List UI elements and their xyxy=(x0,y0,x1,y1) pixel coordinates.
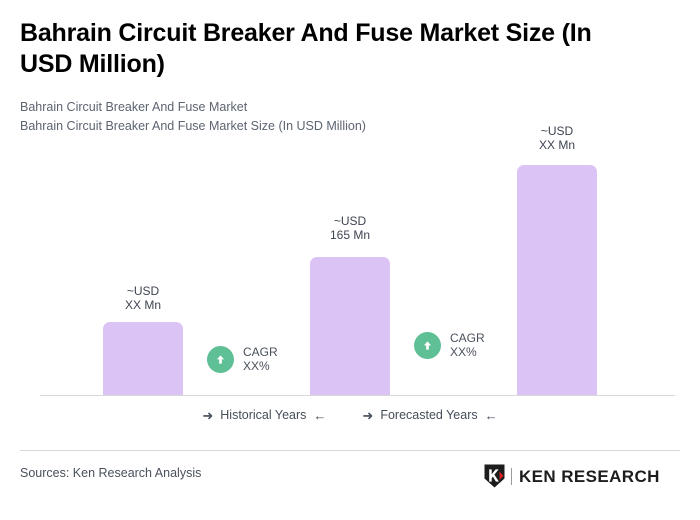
arrow-left-icon: ← xyxy=(313,409,326,422)
arrow-right-icon: ➜ xyxy=(362,409,373,422)
bar-label-2-value: 165 Mn xyxy=(290,228,410,242)
sources-text: Sources: Ken Research Analysis xyxy=(20,466,201,480)
axis-baseline xyxy=(40,395,675,396)
cagr-badge-1-text: CAGR XX% xyxy=(243,345,278,374)
arrow-right-icon: ➜ xyxy=(202,409,213,422)
cagr-badge-1: CAGR XX% xyxy=(207,345,278,374)
bar-3 xyxy=(517,165,597,395)
cagr-badge-1-title: CAGR xyxy=(243,345,278,359)
ken-research-logo: KEN RESEARCH xyxy=(483,463,660,489)
legend-item-forecasted-years-label: Forecasted Years xyxy=(380,408,477,422)
cagr-badge-1-value: XX% xyxy=(243,359,278,373)
bar-label-3-value: XX Mn xyxy=(497,138,617,152)
bar-label-3: ~USD XX Mn xyxy=(497,124,617,153)
chart-page: Bahrain Circuit Breaker And Fuse Market … xyxy=(0,0,700,520)
ken-research-shield-icon xyxy=(483,463,506,489)
cagr-badge-2-title: CAGR xyxy=(450,331,485,345)
arrow-left-icon: ← xyxy=(485,409,498,422)
bar-label-2: ~USD 165 Mn xyxy=(290,214,410,243)
bar-label-3-unit: ~USD xyxy=(497,124,617,138)
bar-label-1-value: XX Mn xyxy=(83,298,203,312)
cagr-badge-2-value: XX% xyxy=(450,345,485,359)
bar-label-1-unit: ~USD xyxy=(83,284,203,298)
bar-label-1: ~USD XX Mn xyxy=(83,284,203,313)
logo-separator xyxy=(511,468,512,485)
footer-divider xyxy=(20,450,680,451)
bar-2 xyxy=(310,257,390,395)
ken-research-wordmark: KEN RESEARCH xyxy=(519,468,660,485)
plot-area: ~USD XX Mn ~USD 165 Mn ~USD XX Mn CAGR xyxy=(0,0,700,400)
chart-legend: ➜ Historical Years ← ➜ Forecasted Years … xyxy=(0,408,700,422)
legend-item-forecasted-years: ➜ Forecasted Years ← xyxy=(362,408,497,422)
bar-label-2-unit: ~USD xyxy=(290,214,410,228)
bar-1 xyxy=(103,322,183,395)
cagr-badge-2: CAGR XX% xyxy=(414,331,485,360)
cagr-up-arrow-icon xyxy=(207,346,234,373)
legend-item-historical-years-label: Historical Years xyxy=(220,408,306,422)
legend-item-historical-years: ➜ Historical Years ← xyxy=(202,408,326,422)
cagr-up-arrow-icon xyxy=(414,332,441,359)
cagr-badge-2-text: CAGR XX% xyxy=(450,331,485,360)
